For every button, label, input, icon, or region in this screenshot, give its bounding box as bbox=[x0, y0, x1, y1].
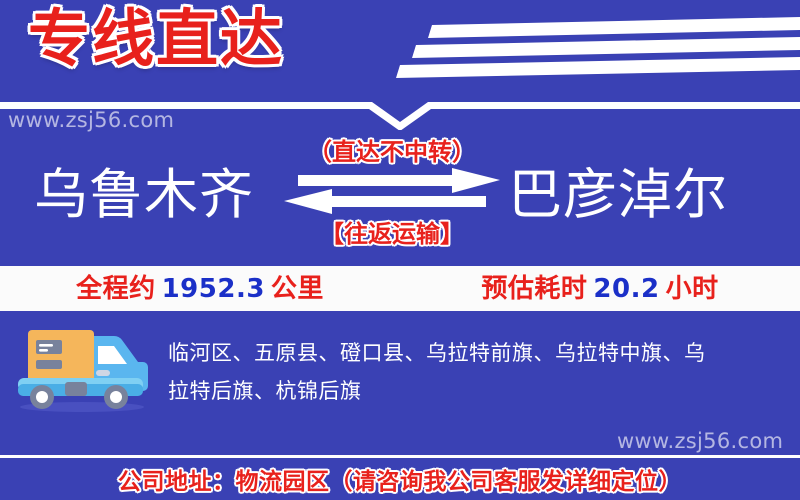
watermark-bottom: www.zsj56.com bbox=[617, 429, 783, 453]
distance-value: 1952.3 bbox=[162, 274, 265, 304]
page-title: 专线直达 bbox=[28, 8, 284, 70]
duration-unit: 小时 bbox=[666, 274, 719, 304]
distance-unit: 公里 bbox=[271, 274, 324, 304]
bidirectional-arrow-icon bbox=[284, 168, 500, 214]
logistics-route-banner: 专线直达 www.zsj56.com www.zsj56.com 乌鲁木齐 巴彦… bbox=[0, 0, 800, 500]
diagonal-stripes-decoration bbox=[390, 0, 800, 110]
distance-stat: 全程约1952.3公里 bbox=[0, 276, 400, 302]
duration-label: 预估耗时 bbox=[481, 274, 587, 304]
duration-value: 20.2 bbox=[593, 274, 659, 304]
coverage-area-list: 临河区、五原县、磴口县、乌拉特前旗、乌拉特中旗、乌 拉特后旗、杭锦后旗 bbox=[168, 334, 790, 410]
company-address-text: 公司地址：物流园区（请咨询我公司客服发详细定位） bbox=[118, 462, 682, 496]
delivery-truck-icon bbox=[10, 322, 155, 414]
company-address-bar: 公司地址：物流园区（请咨询我公司客服发详细定位） bbox=[0, 455, 800, 500]
duration-stat: 预估耗时20.2小时 bbox=[400, 276, 800, 302]
origin-city: 乌鲁木齐 bbox=[34, 168, 254, 222]
watermark-top: www.zsj56.com bbox=[8, 108, 174, 132]
round-trip-tag: 【往返运输】 bbox=[284, 222, 500, 246]
direct-service-tag: （直达不中转） bbox=[284, 140, 500, 164]
distance-label: 全程约 bbox=[76, 274, 156, 304]
coverage-line-1: 临河区、五原县、磴口县、乌拉特前旗、乌拉特中旗、乌 bbox=[168, 334, 790, 372]
route-middle-block: （直达不中转） 【往返运输】 bbox=[284, 138, 500, 258]
destination-city: 巴彦淖尔 bbox=[508, 168, 728, 222]
coverage-line-2: 拉特后旗、杭锦后旗 bbox=[168, 372, 790, 410]
stats-band: 全程约1952.3公里 预估耗时20.2小时 bbox=[0, 266, 800, 311]
